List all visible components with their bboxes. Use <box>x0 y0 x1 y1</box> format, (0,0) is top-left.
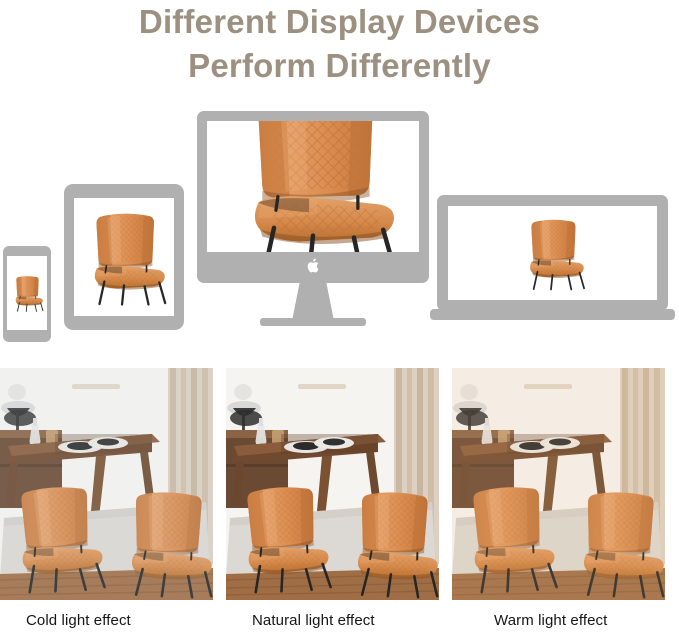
laptop-screen <box>448 206 657 300</box>
smartphone-screen <box>7 256 47 330</box>
chair-image-tablet <box>74 198 174 316</box>
device-lineup <box>0 88 679 350</box>
device-tablet <box>64 184 184 330</box>
page-title-line-2: Perform Differently <box>188 44 491 88</box>
device-laptop <box>430 195 675 325</box>
caption-warm-light: Warm light effect <box>452 604 665 637</box>
caption-cold-light: Cold light effect <box>0 604 213 637</box>
photo-natural-light <box>226 368 439 600</box>
chair-image-laptop <box>448 206 657 300</box>
page-title: Different Display Devices Perform Differ… <box>0 0 679 88</box>
monitor-stand-base <box>260 318 366 326</box>
device-smartphone <box>3 246 51 342</box>
chair-image-phone <box>7 256 47 330</box>
monitor-stand-neck <box>292 283 334 321</box>
apple-logo-icon <box>306 257 320 274</box>
photo-cold-light <box>0 368 213 600</box>
scene-image-natural <box>226 368 439 600</box>
scene-image-cold <box>0 368 213 600</box>
device-desktop-monitor <box>197 111 429 333</box>
caption-row: Cold light effect Natural light effect W… <box>0 604 679 637</box>
caption-natural-light: Natural light effect <box>226 604 439 637</box>
lighting-comparison-row <box>0 368 679 600</box>
chair-image-monitor <box>207 121 419 252</box>
scene-image-warm <box>452 368 665 600</box>
monitor-screen <box>207 121 419 252</box>
laptop-base <box>430 309 675 320</box>
photo-warm-light <box>452 368 665 600</box>
page-title-line-1: Different Display Devices <box>139 0 540 44</box>
tablet-screen <box>74 198 174 316</box>
product-infographic-page: Different Display Devices Perform Differ… <box>0 0 679 637</box>
